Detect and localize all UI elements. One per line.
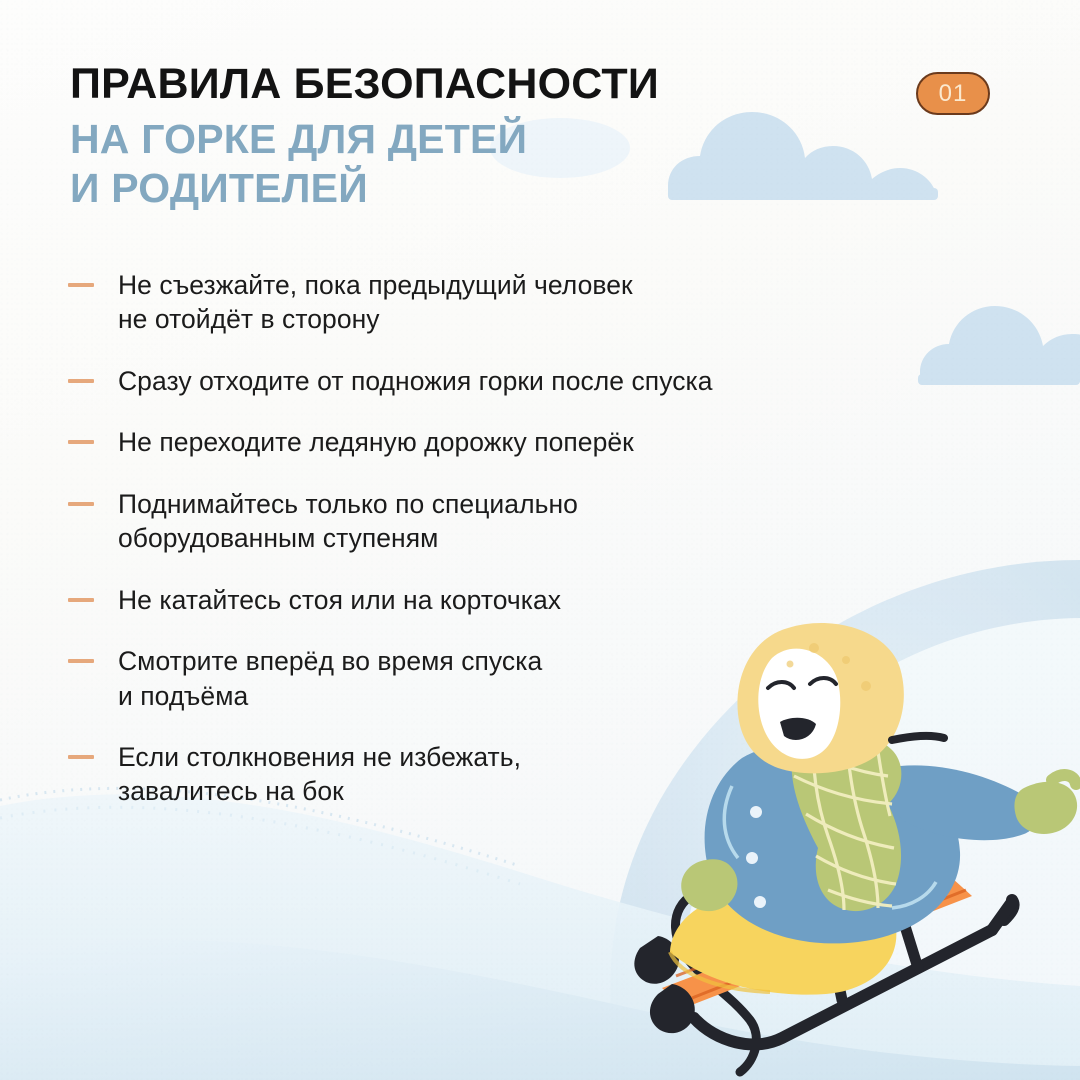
rule-text: Смотрите вперёд во время спуска и подъём… bbox=[118, 644, 542, 713]
sled-rope-icon bbox=[675, 890, 756, 1072]
list-item: Смотрите вперёд во время спуска и подъём… bbox=[68, 644, 898, 713]
list-item: Если столкновения не избежать, завалитес… bbox=[68, 740, 898, 809]
dash-bullet-icon bbox=[68, 659, 94, 663]
list-item: Не катайтесь стоя или на корточках bbox=[68, 583, 898, 617]
poster-canvas: ПРАВИЛА БЕЗОПАСНОСТИ НА ГОРКЕ ДЛЯ ДЕТЕЙ … bbox=[0, 0, 1080, 1080]
step-number-label: 01 bbox=[939, 82, 968, 106]
mitten-right-icon bbox=[1014, 782, 1077, 834]
page-title-line1: ПРАВИЛА БЕЗОПАСНОСТИ bbox=[70, 63, 990, 106]
hair-strand-icon bbox=[892, 736, 944, 740]
dash-bullet-icon bbox=[68, 440, 94, 444]
rule-text: Не переходите ледяную дорожку поперёк bbox=[118, 425, 634, 459]
dash-bullet-icon bbox=[68, 755, 94, 759]
page-title-line2: НА ГОРКЕ ДЛЯ ДЕТЕЙ bbox=[70, 115, 990, 163]
step-number-badge: 01 bbox=[916, 72, 990, 115]
dash-bullet-icon bbox=[68, 379, 94, 383]
list-item: Сразу отходите от подножия горки после с… bbox=[68, 364, 898, 398]
cloud-right-icon bbox=[918, 306, 1080, 385]
list-item: Не съезжайте, пока предыдущий человек не… bbox=[68, 268, 898, 337]
header: ПРАВИЛА БЕЗОПАСНОСТИ НА ГОРКЕ ДЛЯ ДЕТЕЙ … bbox=[70, 63, 990, 213]
boots-icon bbox=[634, 936, 694, 1033]
rule-text: Не катайтесь стоя или на корточках bbox=[118, 583, 561, 617]
rule-text: Если столкновения не избежать, завалитес… bbox=[118, 740, 521, 809]
mitten-left-icon bbox=[681, 859, 737, 911]
rules-list: Не съезжайте, пока предыдущий человек не… bbox=[68, 268, 898, 836]
rule-text: Поднимайтесь только по специально оборуд… bbox=[118, 487, 578, 556]
dash-bullet-icon bbox=[68, 283, 94, 287]
dash-bullet-icon bbox=[68, 598, 94, 602]
rule-text: Сразу отходите от подножия горки после с… bbox=[118, 364, 713, 398]
list-item: Поднимайтесь только по специально оборуд… bbox=[68, 487, 898, 556]
sled-icon bbox=[662, 870, 1014, 1044]
page-title-line3: И РОДИТЕЛЕЙ bbox=[70, 164, 990, 212]
dash-bullet-icon bbox=[68, 502, 94, 506]
rule-text: Не съезжайте, пока предыдущий человек не… bbox=[118, 268, 633, 337]
arm-icon bbox=[890, 765, 1037, 840]
list-item: Не переходите ледяную дорожку поперёк bbox=[68, 425, 898, 459]
pants-icon bbox=[670, 893, 896, 994]
